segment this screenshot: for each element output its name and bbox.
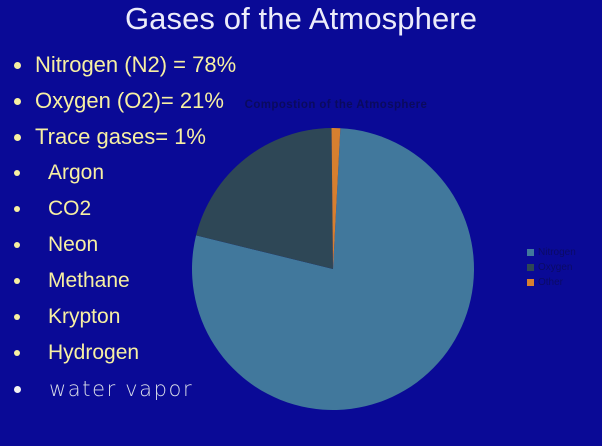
list-item: Nitrogen (N2) = 78% [0,47,300,83]
bullet-dot-icon [14,350,20,356]
chart-legend: Nitrogen Oxygen Other [527,246,602,291]
bullet-dot-icon [14,278,20,284]
legend-swatch-icon [527,249,534,256]
bullet-dot-icon [14,206,20,212]
list-item-label: water vapor [49,376,193,402]
list-item-label: Argon [48,160,104,186]
bullet-dot-icon [14,170,20,176]
legend-swatch-icon [527,279,534,286]
list-item-label: Krypton [48,304,120,330]
bullet-dot-icon [14,62,21,69]
list-item-label: CO2 [48,196,91,222]
pie-slices [192,128,474,410]
legend-label: Nitrogen [538,247,576,258]
pie-chart: Compostion of the Atmosphere Nitrogen Ox… [186,92,602,422]
list-item-label: Hydrogen [48,340,139,366]
list-item-label: Nitrogen (N2) = 78% [35,52,236,78]
list-item-label: Neon [48,232,98,258]
pie-svg [186,92,486,422]
legend-label: Oxygen [538,262,572,273]
bullet-dot-icon [14,134,21,141]
list-item-label: Methane [48,268,130,294]
legend-item-nitrogen: Nitrogen [527,246,602,259]
list-item-label: Trace gases= 1% [35,124,206,150]
bullet-dot-icon [14,386,21,393]
bullet-dot-icon [14,98,21,105]
page-title: Gases of the Atmosphere [0,1,602,37]
bullet-dot-icon [14,242,20,248]
legend-item-other: Other [527,276,602,289]
legend-swatch-icon [527,264,534,271]
legend-label: Other [538,277,563,288]
bullet-dot-icon [14,314,20,320]
legend-item-oxygen: Oxygen [527,261,602,274]
pie-plot-area [186,92,486,422]
slide-canvas: Gases of the Atmosphere Nitrogen (N2) = … [0,0,602,446]
